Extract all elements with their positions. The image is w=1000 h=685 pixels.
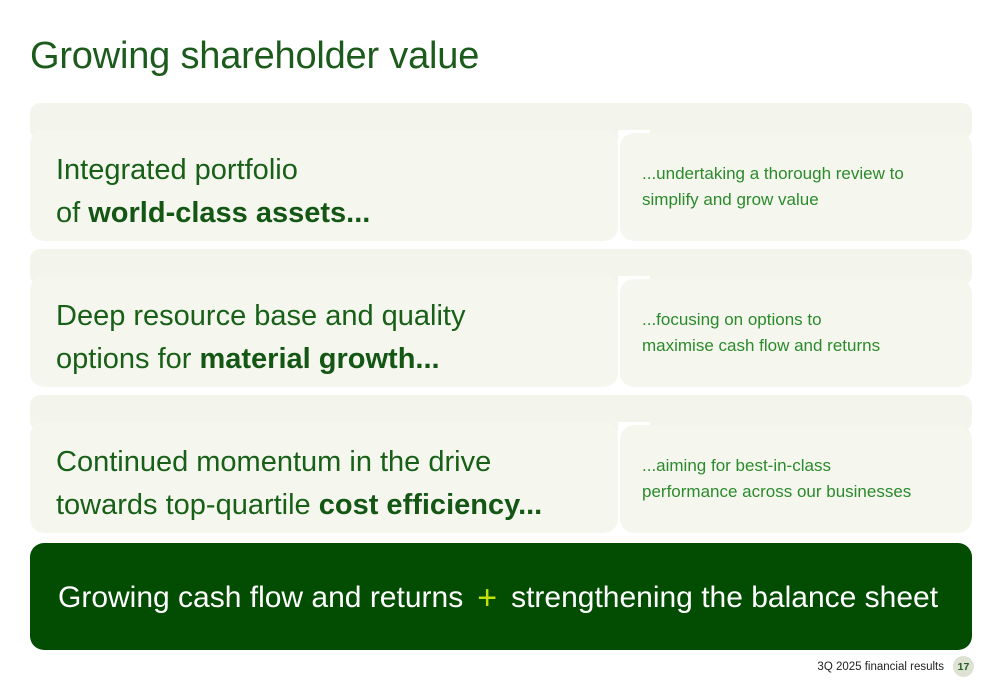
page-number-badge: 17 — [953, 656, 974, 677]
statement-card-3[interactable]: Continued momentum in the drive towards … — [30, 422, 618, 533]
banner-text-right: strengthening the balance sheet — [511, 581, 938, 614]
summary-banner: Growing cash flow and returns+strengthen… — [30, 543, 972, 650]
statement-text-3: Continued momentum in the drive towards … — [56, 441, 618, 527]
detail-card-1[interactable]: ...undertaking a thorough review to simp… — [620, 133, 972, 241]
page-title: Growing shareholder value — [30, 33, 479, 79]
plus-icon: + — [477, 579, 497, 617]
slide-canvas: Growing shareholder value Integrated por… — [0, 0, 1000, 685]
detail-card-3[interactable]: ...aiming for best-in-class performance … — [620, 425, 972, 533]
statement-text-1: Integrated portfolio of world-class asse… — [56, 149, 618, 235]
statement-emphasis-1: world-class assets... — [88, 197, 370, 229]
detail-text-2: ...focusing on options to maximise cash … — [642, 307, 950, 359]
statement-card-2[interactable]: Deep resource base and quality options f… — [30, 276, 618, 387]
statement-text-2: Deep resource base and quality options f… — [56, 295, 618, 381]
detail-card-2[interactable]: ...focusing on options to maximise cash … — [620, 279, 972, 387]
summary-banner-text: Growing cash flow and returns+strengthen… — [58, 577, 938, 617]
statement-emphasis-2: material growth... — [199, 343, 439, 375]
detail-text-1: ...undertaking a thorough review to simp… — [642, 161, 950, 213]
footer: 3Q 2025 financial results 17 — [817, 656, 974, 677]
statement-card-1[interactable]: Integrated portfolio of world-class asse… — [30, 130, 618, 241]
statement-emphasis-3: cost efficiency... — [319, 489, 543, 521]
footer-label: 3Q 2025 financial results — [817, 661, 944, 673]
detail-text-3: ...aiming for best-in-class performance … — [642, 453, 950, 505]
banner-text-left: Growing cash flow and returns — [58, 581, 463, 614]
